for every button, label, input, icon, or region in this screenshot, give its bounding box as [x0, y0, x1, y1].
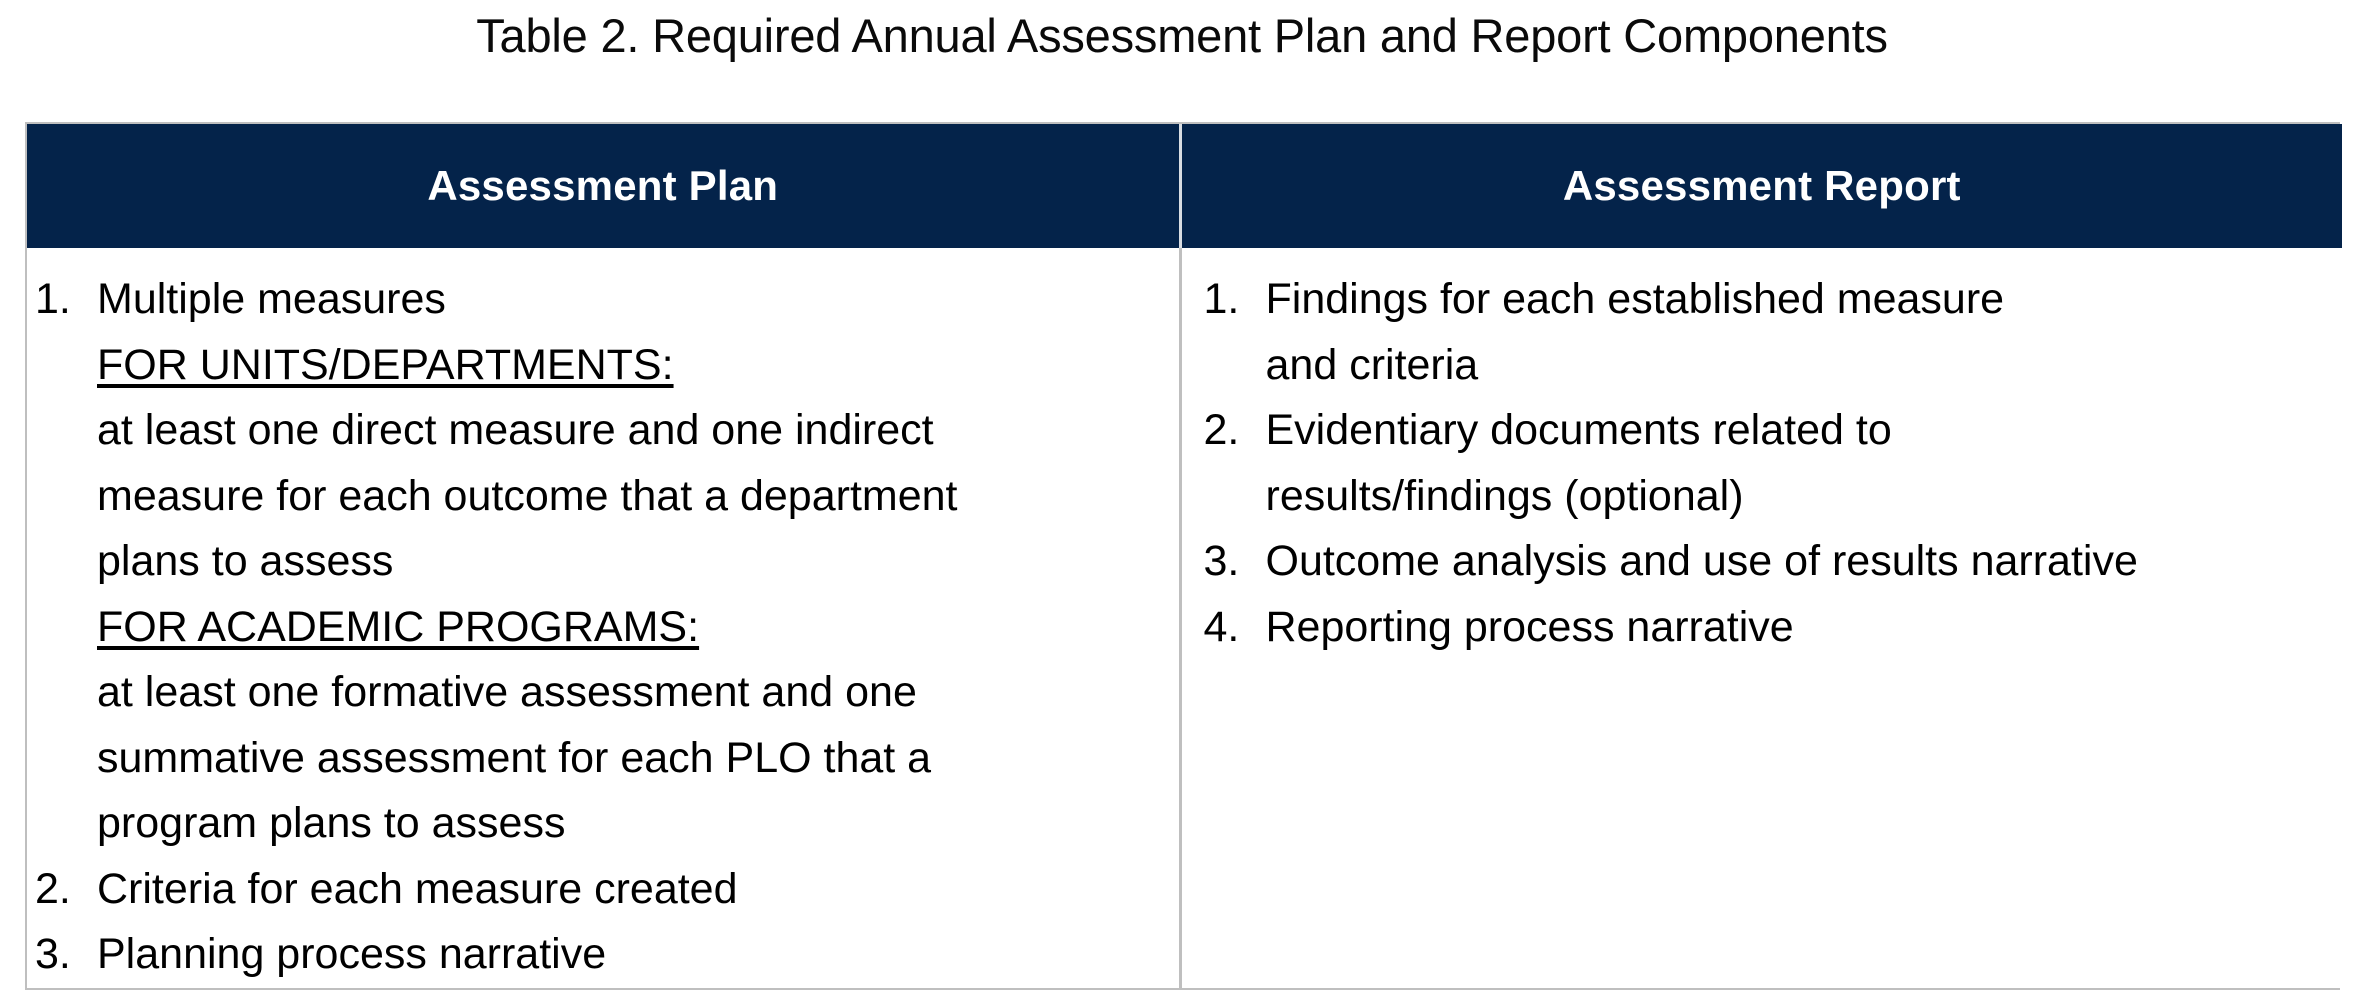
list-item-line: Planning process narrative: [97, 922, 1179, 988]
list-item: 3.Planning process narrative: [35, 922, 1179, 988]
table-header: Assessment Plan Assessment Report: [27, 124, 2342, 248]
list-item-line: Evidentiary documents related to: [1266, 398, 2343, 464]
list-item-subheading: FOR UNITS/DEPARTMENTS:: [97, 333, 1179, 399]
list-item-line: measure for each outcome that a departme…: [97, 464, 1179, 530]
column-header-assessment-report: Assessment Report: [1180, 124, 2342, 248]
table-row: 1.Multiple measuresFOR UNITS/DEPARTMENTS…: [27, 248, 2342, 988]
list-item-line: program plans to assess: [97, 791, 1179, 857]
list-item-line: summative assessment for each PLO that a: [97, 726, 1179, 792]
list-item-line: Reporting process narrative: [1266, 595, 2343, 661]
list-item: 2.Criteria for each measure created: [35, 857, 1179, 923]
list-item-number: 1.: [35, 267, 83, 333]
assessment-report-list: 1.Findings for each established measurea…: [1204, 267, 2343, 660]
list-item: 4.Reporting process narrative: [1204, 595, 2343, 661]
list-item: 1.Multiple measuresFOR UNITS/DEPARTMENTS…: [35, 267, 1179, 857]
assessment-components-table: Assessment Plan Assessment Report 1.Mult…: [25, 122, 2340, 990]
list-item: 3.Outcome analysis and use of results na…: [1204, 529, 2343, 595]
list-item-subheading: FOR ACADEMIC PROGRAMS:: [97, 595, 1179, 661]
list-item-number: 3.: [1204, 529, 1252, 595]
assessment-report-content: 1.Findings for each established measurea…: [1182, 248, 2343, 660]
list-item: 1.Findings for each established measurea…: [1204, 267, 2343, 398]
assessment-plan-content: 1.Multiple measuresFOR UNITS/DEPARTMENTS…: [27, 248, 1179, 988]
list-item-number: 2.: [1204, 398, 1252, 464]
list-item-body: Findings for each established measureand…: [1266, 267, 2343, 398]
table: Assessment Plan Assessment Report 1.Mult…: [27, 124, 2342, 988]
list-item-number: 1.: [1204, 267, 1252, 333]
list-item-line: Multiple measures: [97, 267, 1179, 333]
assessment-plan-list: 1.Multiple measuresFOR UNITS/DEPARTMENTS…: [35, 267, 1179, 988]
list-item-number: 3.: [35, 922, 83, 988]
list-item-body: Criteria for each measure created: [97, 857, 1179, 923]
list-item-line: plans to assess: [97, 529, 1179, 595]
list-item: 2.Evidentiary documents related toresult…: [1204, 398, 2343, 529]
cell-assessment-report: 1.Findings for each established measurea…: [1180, 248, 2342, 988]
page-title: Table 2. Required Annual Assessment Plan…: [0, 8, 2364, 64]
list-item-line: at least one formative assessment and on…: [97, 660, 1179, 726]
list-item-body: Multiple measuresFOR UNITS/DEPARTMENTS:a…: [97, 267, 1179, 857]
table-body: 1.Multiple measuresFOR UNITS/DEPARTMENTS…: [27, 248, 2342, 988]
list-item-line: Criteria for each measure created: [97, 857, 1179, 923]
list-item-body: Reporting process narrative: [1266, 595, 2343, 661]
list-item-line: at least one direct measure and one indi…: [97, 398, 1179, 464]
list-item-line: Outcome analysis and use of results narr…: [1266, 529, 2343, 595]
list-item-body: Evidentiary documents related toresults/…: [1266, 398, 2343, 529]
list-item-line: results/findings (optional): [1266, 464, 2343, 530]
list-item-line: Findings for each established measure: [1266, 267, 2343, 333]
list-item-body: Outcome analysis and use of results narr…: [1266, 529, 2343, 595]
table-header-row: Assessment Plan Assessment Report: [27, 124, 2342, 248]
cell-assessment-plan: 1.Multiple measuresFOR UNITS/DEPARTMENTS…: [27, 248, 1180, 988]
list-item-number: 4.: [1204, 595, 1252, 661]
page-root: Table 2. Required Annual Assessment Plan…: [0, 0, 2364, 1000]
list-item-number: 2.: [35, 857, 83, 923]
list-item-body: Planning process narrative: [97, 922, 1179, 988]
list-item-line: and criteria: [1266, 333, 2343, 399]
column-header-assessment-plan: Assessment Plan: [27, 124, 1180, 248]
